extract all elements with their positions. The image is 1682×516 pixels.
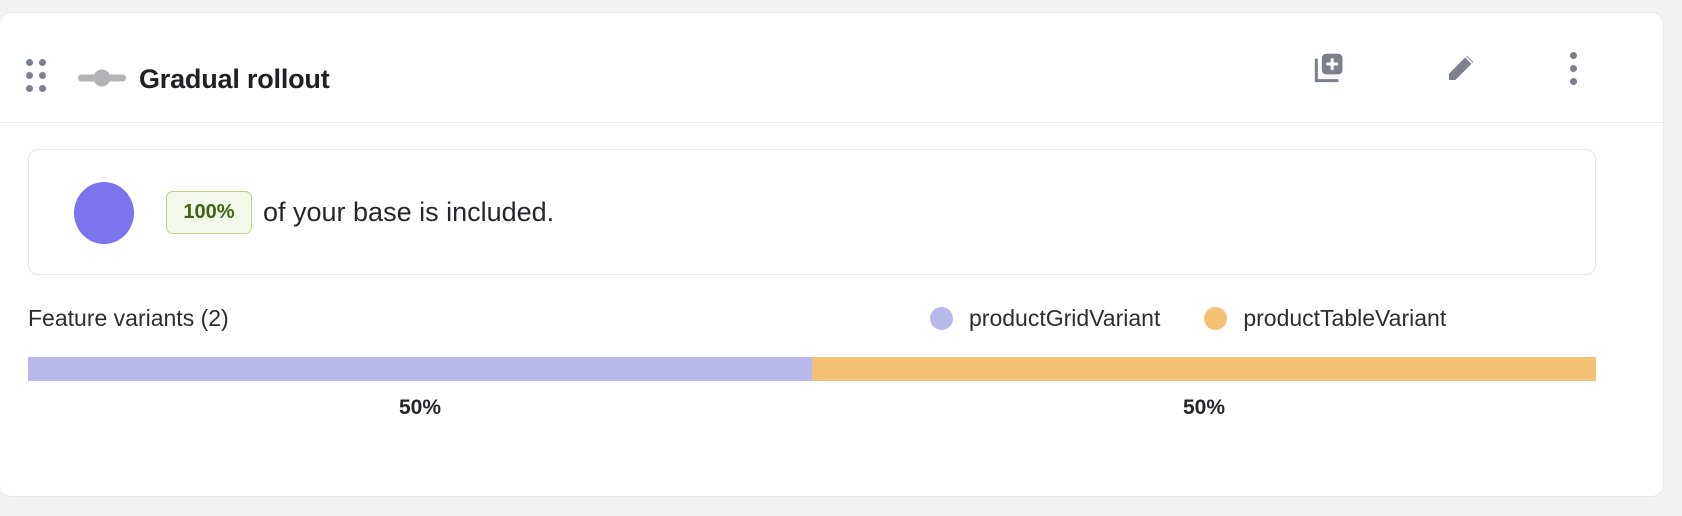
- drag-dot: [39, 59, 46, 66]
- strategy-card-page: Gradual rollout: [0, 0, 1682, 516]
- slider-toggle-icon: [78, 65, 126, 91]
- kebab-dot: [1570, 65, 1577, 72]
- pencil-icon: [1442, 49, 1480, 87]
- legend-label: productGridVariant: [969, 303, 1160, 333]
- drag-dot: [26, 85, 33, 92]
- segment-indicator-dot: [74, 182, 134, 244]
- kebab-dot: [1570, 78, 1577, 85]
- duplicate-strategy-button[interactable]: [1303, 42, 1355, 94]
- kebab-menu-icon: [1570, 52, 1577, 85]
- edit-strategy-button[interactable]: [1435, 42, 1487, 94]
- copy-plus-icon: [1310, 49, 1348, 87]
- rollout-coverage-panel: 100% of your base is included.: [28, 149, 1596, 275]
- variant-weight-label: 50%: [399, 393, 441, 423]
- variant-bar-segment: [812, 357, 1596, 381]
- drag-dot: [26, 59, 33, 66]
- coverage-description: of your base is included.: [263, 188, 554, 236]
- variant-weight-labels: 50%50%: [28, 393, 1596, 425]
- legend-swatch: [1204, 307, 1227, 330]
- legend-label: productTableVariant: [1243, 303, 1446, 333]
- coverage-percentage-badge: 100%: [166, 191, 252, 234]
- drag-dot: [26, 72, 33, 79]
- page-title: Gradual rollout: [139, 63, 330, 95]
- variant-distribution-bar: [28, 357, 1596, 381]
- feature-variants-label: Feature variants (2): [28, 303, 229, 333]
- drag-dot: [39, 85, 46, 92]
- variants-legend: productGridVariant productTableVariant: [930, 303, 1446, 333]
- variant-weight-label: 50%: [1183, 393, 1225, 423]
- legend-item-productGridVariant: productGridVariant: [930, 303, 1160, 333]
- gradual-rollout-strategy-card: Gradual rollout: [0, 12, 1664, 497]
- strategy-more-menu-button[interactable]: [1547, 42, 1599, 94]
- variant-bar-segment: [28, 357, 812, 381]
- legend-item-productTableVariant: productTableVariant: [1204, 303, 1446, 333]
- strategy-card-header: Gradual rollout: [0, 13, 1663, 123]
- kebab-dot: [1570, 52, 1577, 59]
- drag-handle-icon[interactable]: [26, 59, 46, 91]
- drag-dot: [39, 72, 46, 79]
- legend-swatch: [930, 307, 953, 330]
